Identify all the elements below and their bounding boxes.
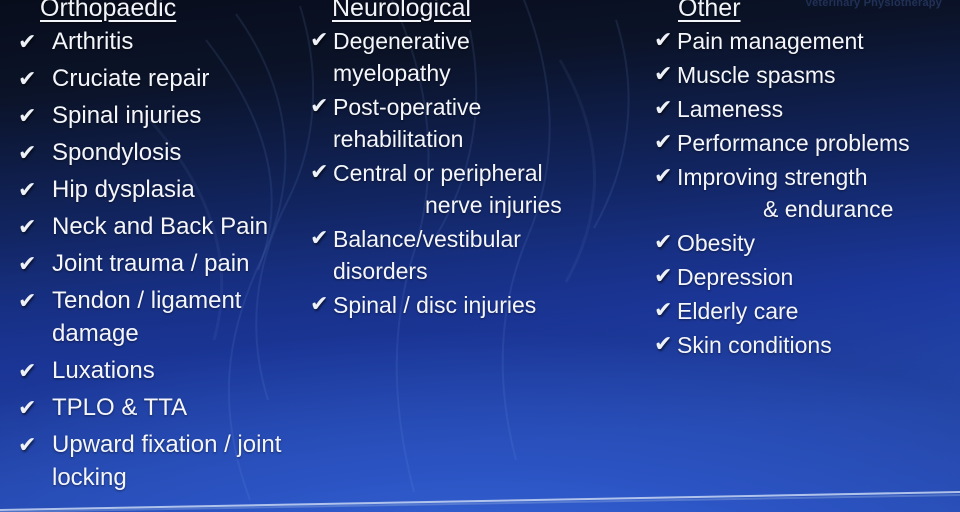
checklist-item: ✔Arthritis: [18, 25, 318, 58]
checklist-item-line: Lameness: [677, 93, 783, 125]
checklist-item-label: Central or peripheralnerve injuries: [333, 157, 562, 221]
checklist-item: ✔Performance problems: [654, 127, 954, 159]
check-icon: ✔: [18, 428, 52, 456]
checklist-item: ✔Depression: [654, 261, 954, 293]
column-orthopaedic-items: ✔Arthritis✔Cruciate repair✔Spinal injuri…: [18, 25, 318, 494]
check-icon: ✔: [310, 25, 333, 51]
checklist-item-label: Cruciate repair: [52, 62, 209, 95]
check-icon: ✔: [654, 295, 677, 321]
checklist-item-line: Degenerative: [333, 25, 470, 57]
checklist-item: ✔Elderly care: [654, 295, 954, 327]
checklist-item: ✔Tendon / ligamentdamage: [18, 284, 318, 350]
checklist-item-label: Joint trauma / pain: [52, 247, 249, 280]
checklist-item-line: Spinal injuries: [52, 99, 201, 132]
checklist-item-line: Spinal / disc injuries: [333, 289, 536, 321]
checklist-item-line: Cruciate repair: [52, 62, 209, 95]
checklist-item: ✔Joint trauma / pain: [18, 247, 318, 280]
checklist-item-line: Joint trauma / pain: [52, 247, 249, 280]
checklist-item-line: TPLO & TTA: [52, 391, 187, 424]
column-orthopaedic: Orthopaedic ✔Arthritis✔Cruciate repair✔S…: [18, 0, 318, 498]
check-icon: ✔: [310, 289, 333, 315]
checklist-item-label: Performance problems: [677, 127, 910, 159]
checklist-item: ✔Skin conditions: [654, 329, 954, 361]
check-icon: ✔: [18, 136, 52, 164]
check-icon: ✔: [18, 284, 52, 312]
checklist-item-line: Luxations: [52, 354, 155, 387]
column-neurological-items: ✔Degenerativemyelopathy✔Post-operativere…: [310, 25, 650, 321]
checklist-item-label: Skin conditions: [677, 329, 832, 361]
check-icon: ✔: [654, 161, 677, 187]
checklist-item: ✔Central or peripheralnerve injuries: [310, 157, 650, 221]
checklist-item-line: Performance problems: [677, 127, 910, 159]
checklist-item: ✔Muscle spasms: [654, 59, 954, 91]
checklist-item-continuation: damage: [52, 317, 241, 350]
checklist-item-label: TPLO & TTA: [52, 391, 187, 424]
check-icon: ✔: [654, 329, 677, 355]
checklist-item-label: Arthritis: [52, 25, 133, 58]
checklist-item: ✔Post-operativerehabilitation: [310, 91, 650, 155]
checklist-item-label: Upward fixation / jointlocking: [52, 428, 281, 494]
checklist-item-line: Improving strength: [677, 161, 893, 193]
check-icon: ✔: [654, 25, 677, 51]
checklist-item: ✔Obesity: [654, 227, 954, 259]
slide-canvas: Veterinary Physiotherapy Orthopaedic ✔Ar…: [0, 0, 960, 512]
checklist-item-line: Skin conditions: [677, 329, 832, 361]
checklist-item-continuation: rehabilitation: [333, 123, 481, 155]
checklist-item-line: Pain management: [677, 25, 864, 57]
check-icon: ✔: [654, 227, 677, 253]
check-icon: ✔: [654, 59, 677, 85]
check-icon: ✔: [18, 173, 52, 201]
checklist-item: ✔Upward fixation / jointlocking: [18, 428, 318, 494]
checklist-item: ✔Spinal / disc injuries: [310, 289, 650, 321]
check-icon: ✔: [18, 25, 52, 53]
checklist-item-line: Spondylosis: [52, 136, 181, 169]
checklist-item: ✔Spondylosis: [18, 136, 318, 169]
checklist-item-continuation: nerve injuries: [333, 189, 562, 221]
check-icon: ✔: [18, 391, 52, 419]
check-icon: ✔: [18, 62, 52, 90]
checklist-item: ✔Luxations: [18, 354, 318, 387]
checklist-item-label: Luxations: [52, 354, 155, 387]
check-icon: ✔: [18, 210, 52, 238]
checklist-item-line: Elderly care: [677, 295, 798, 327]
check-icon: ✔: [310, 157, 333, 183]
checklist-item-label: Neck and Back Pain: [52, 210, 268, 243]
checklist-item-line: Depression: [677, 261, 793, 293]
check-icon: ✔: [654, 127, 677, 153]
checklist-item: ✔Cruciate repair: [18, 62, 318, 95]
checklist-item: ✔Spinal injuries: [18, 99, 318, 132]
checklist-item-line: Muscle spasms: [677, 59, 835, 91]
checklist-item-continuation: disorders: [333, 255, 521, 287]
checklist-item-continuation: myelopathy: [333, 57, 470, 89]
column-title-other: Other: [678, 0, 954, 23]
column-neurological: Neurological ✔Degenerativemyelopathy✔Pos…: [310, 0, 650, 323]
check-icon: ✔: [18, 247, 52, 275]
checklist-item: ✔Degenerativemyelopathy: [310, 25, 650, 89]
checklist-item-line: Neck and Back Pain: [52, 210, 268, 243]
column-title-neurological: Neurological: [332, 0, 650, 23]
checklist-item-label: Balance/vestibulardisorders: [333, 223, 521, 287]
checklist-item: ✔Neck and Back Pain: [18, 210, 318, 243]
checklist-item-label: Post-operativerehabilitation: [333, 91, 481, 155]
checklist-item-label: Obesity: [677, 227, 755, 259]
checklist-item-line: Upward fixation / joint: [52, 428, 281, 461]
check-icon: ✔: [654, 261, 677, 287]
check-icon: ✔: [310, 91, 333, 117]
check-icon: ✔: [654, 93, 677, 119]
checklist-item-label: Degenerativemyelopathy: [333, 25, 470, 89]
checklist-item-label: Tendon / ligamentdamage: [52, 284, 241, 350]
checklist-item-continuation: & endurance: [677, 193, 893, 225]
checklist-item-line: Balance/vestibular: [333, 223, 521, 255]
checklist-item-line: Tendon / ligament: [52, 284, 241, 317]
checklist-item-label: Elderly care: [677, 295, 798, 327]
topic-columns: Orthopaedic ✔Arthritis✔Cruciate repair✔S…: [0, 0, 960, 512]
checklist-item-label: Depression: [677, 261, 793, 293]
checklist-item-line: Arthritis: [52, 25, 133, 58]
checklist-item-label: Spondylosis: [52, 136, 181, 169]
checklist-item-label: Spinal injuries: [52, 99, 201, 132]
checklist-item-line: Post-operative: [333, 91, 481, 123]
checklist-item: ✔TPLO & TTA: [18, 391, 318, 424]
checklist-item-label: Improving strength& endurance: [677, 161, 893, 225]
checklist-item: ✔Balance/vestibulardisorders: [310, 223, 650, 287]
checklist-item-line: Hip dysplasia: [52, 173, 195, 206]
checklist-item: ✔Lameness: [654, 93, 954, 125]
checklist-item-label: Hip dysplasia: [52, 173, 195, 206]
checklist-item-continuation: locking: [52, 461, 281, 494]
checklist-item: ✔Improving strength& endurance: [654, 161, 954, 225]
check-icon: ✔: [310, 223, 333, 249]
checklist-item-line: Central or peripheral: [333, 157, 562, 189]
checklist-item-label: Spinal / disc injuries: [333, 289, 536, 321]
checklist-item: ✔Hip dysplasia: [18, 173, 318, 206]
checklist-item-label: Lameness: [677, 93, 783, 125]
checklist-item-label: Pain management: [677, 25, 864, 57]
column-other: Other ✔Pain management✔Muscle spasms✔Lam…: [654, 0, 954, 363]
checklist-item-label: Muscle spasms: [677, 59, 835, 91]
checklist-item: ✔Pain management: [654, 25, 954, 57]
check-icon: ✔: [18, 354, 52, 382]
column-title-orthopaedic: Orthopaedic: [40, 0, 318, 23]
check-icon: ✔: [18, 99, 52, 127]
checklist-item-line: Obesity: [677, 227, 755, 259]
column-other-items: ✔Pain management✔Muscle spasms✔Lameness✔…: [654, 25, 954, 361]
